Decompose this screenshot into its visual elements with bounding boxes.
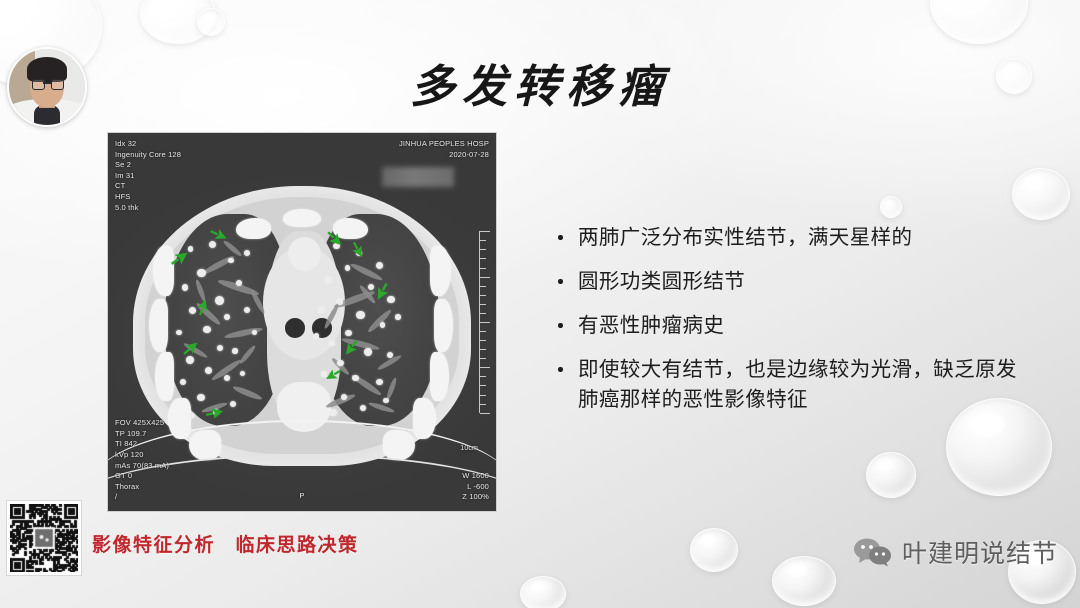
- ct-scale-ruler: [479, 231, 490, 412]
- bullet-item: 即使较大有结节，也是边缘较为光滑，缺乏原发肺癌那样的恶性影像特征: [552, 354, 1022, 414]
- ct-nodule: [197, 394, 204, 401]
- ct-overlay-top-left: Idx 32 Ingenuity Core 128 Se 2 Im 31 CT …: [115, 139, 181, 213]
- ct-nodule: [383, 398, 388, 403]
- ct-nodule: [352, 375, 358, 381]
- ct-nodule: [337, 299, 343, 305]
- ct-nodule: [215, 296, 224, 305]
- ct-rib: [236, 218, 271, 239]
- ct-nodule: [182, 284, 189, 290]
- ct-nodule: [329, 341, 334, 346]
- wechat-branding: 叶建明说结节: [853, 534, 1058, 570]
- ct-nodule: [228, 258, 233, 263]
- bubble-decoration: [772, 556, 836, 606]
- ct-nodule: [232, 348, 237, 353]
- ct-nodule: [236, 280, 242, 286]
- ct-rib: [155, 352, 174, 401]
- ct-nodule: [176, 330, 182, 336]
- ct-nodule: [376, 379, 383, 386]
- ct-overlay-top-right: JINHUA PEOPLES HOSP 2020-07-28: [399, 139, 489, 160]
- bubble-decoration: [866, 452, 916, 498]
- ct-nodule: [329, 409, 336, 416]
- bullet-list: 两肺广泛分布实性结节，满天星样的圆形功类圆形结节有恶性肿瘤病史即使较大有结节，也…: [552, 222, 1022, 428]
- ct-scale-label: 10cm: [460, 444, 478, 455]
- ct-nodule: [180, 379, 186, 385]
- ct-nodule: [325, 277, 332, 283]
- bullet-item: 有恶性肿瘤病史: [552, 310, 1022, 340]
- page-title: 多发转移瘤: [0, 50, 1080, 115]
- bullet-items: 两肺广泛分布实性结节，满天星样的圆形功类圆形结节有恶性肿瘤病史即使较大有结节，也…: [552, 222, 1022, 414]
- bubble-decoration: [520, 576, 566, 608]
- ct-nodule: [318, 307, 324, 313]
- qr-code-canvas: [10, 504, 78, 572]
- qr-code[interactable]: [7, 501, 81, 575]
- ct-nodule: [224, 375, 230, 381]
- ct-nodule: [360, 405, 366, 411]
- bullet-item: 圆形功类圆形结节: [552, 266, 1022, 296]
- ct-nodule: [356, 311, 365, 319]
- ct-orientation-marker: P: [108, 491, 496, 502]
- ct-arrow-annotation: [203, 401, 227, 425]
- bubble-decoration: [690, 528, 738, 572]
- ct-rib: [283, 209, 322, 228]
- bubble-decoration: [930, 0, 1028, 44]
- ct-nodule: [364, 348, 372, 356]
- ct-nodule: [380, 322, 386, 328]
- ct-scan-image: 10cm Idx 32 Ingenuity Core 128 Se 2 Im 3…: [108, 133, 496, 511]
- ct-nodule: [345, 265, 350, 270]
- ct-nodule: [395, 314, 400, 319]
- bubble-decoration: [1012, 168, 1070, 220]
- bubble-decoration: [140, 0, 216, 44]
- ct-rib: [149, 299, 168, 352]
- ct-redacted-patient-info: [382, 167, 454, 187]
- bubble-decoration: [197, 8, 225, 36]
- ct-nodule: [217, 345, 223, 351]
- tagline: 影像特征分析 临床思路决策: [92, 530, 359, 557]
- wechat-brand-text: 叶建明说结节: [902, 534, 1058, 570]
- ct-nodule: [203, 326, 211, 334]
- ct-overlay-bottom-left: FOV 425X425 TP 109.7 TI 842 kVp 120 mAs …: [115, 418, 169, 503]
- ct-nodule: [341, 394, 347, 400]
- presentation-slide: 多发转移瘤 10cm Idx 32 Ingenuity Core 128 Se …: [0, 0, 1080, 608]
- ct-bronchus-right: [285, 318, 305, 338]
- bullet-item: 两肺广泛分布实性结节，满天星样的: [552, 222, 1022, 252]
- bubble-decoration: [880, 196, 902, 218]
- wechat-icon: [853, 537, 893, 567]
